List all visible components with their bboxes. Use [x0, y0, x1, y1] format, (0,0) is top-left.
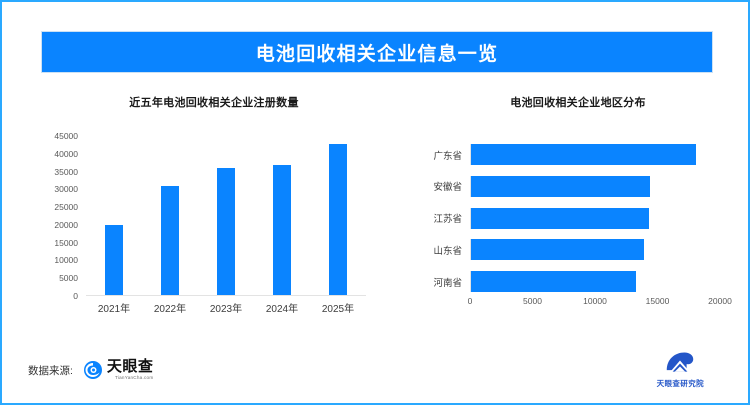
vbar-y-tick: 25000 — [54, 202, 78, 212]
vbar-plot-area — [86, 136, 366, 296]
infographic-poster: 电池回收相关企业信息一览 近五年电池回收相关企业注册数量 05000100001… — [0, 0, 750, 405]
data-source-block: 数据来源: 天眼查 TianYanCha.com — [28, 359, 153, 381]
vbar-y-tick: 35000 — [54, 167, 78, 177]
hbar-track — [470, 176, 721, 197]
vbar-y-tick: 15000 — [54, 238, 78, 248]
vbar-column — [86, 136, 142, 295]
vbar-column — [254, 136, 310, 295]
vbar-column — [310, 136, 366, 295]
hbar-track — [470, 208, 721, 229]
hbar-bar — [471, 176, 650, 197]
hbar-x-tick: 0 — [468, 296, 473, 306]
chart-title-region-distribution: 电池回收相关企业地区分布 — [414, 94, 742, 110]
vbar-x-tick: 2022年 — [142, 300, 198, 315]
hbar-category-label: 广东省 — [408, 148, 470, 162]
hbar-row: 河南省 — [408, 271, 738, 292]
vertical-bar-chart: 0500010000150002000025000300003500040000… — [36, 136, 376, 326]
tianyancha-name-en: TianYanCha.com — [107, 376, 154, 381]
vbar-bar — [105, 225, 123, 295]
vbar-bar — [329, 144, 347, 295]
chart-panel-region-distribution: 电池回收相关企业地区分布 广东省安徽省江苏省山东省河南省 05000100001… — [402, 94, 742, 339]
hbar-x-tick: 20000 — [708, 296, 732, 306]
hbar-category-label: 山东省 — [408, 243, 470, 257]
vbar-y-tick: 40000 — [54, 149, 78, 159]
page-title: 电池回收相关企业信息一览 — [256, 39, 498, 66]
vbar-bar — [273, 165, 291, 295]
tianyancha-wordmark: 天眼查 TianYanCha.com — [107, 359, 154, 381]
poster-title-banner: 电池回收相关企业信息一览 — [42, 32, 712, 72]
hbar-category-label: 河南省 — [408, 275, 470, 289]
hbar-rows: 广东省安徽省江苏省山东省河南省 — [408, 144, 738, 292]
hbar-track — [470, 239, 721, 260]
vbar-x-tick: 2025年 — [310, 300, 366, 315]
hbar-track — [470, 271, 721, 292]
hbar-bar — [471, 271, 636, 292]
research-institute-name: 天眼查研究院 — [657, 378, 704, 389]
hbar-row: 山东省 — [408, 239, 738, 260]
vbar-x-tick: 2021年 — [86, 300, 142, 315]
vbar-x-tick: 2023年 — [198, 300, 254, 315]
tianyancha-eye-icon — [83, 360, 103, 380]
research-institute-block: 天眼查研究院 — [657, 351, 704, 389]
vbar-y-tick: 0 — [73, 291, 78, 301]
hbar-row: 安徽省 — [408, 176, 738, 197]
vbar-y-tick: 5000 — [59, 273, 78, 283]
hbar-bar — [471, 208, 649, 229]
tianyancha-logo: 天眼查 TianYanCha.com — [83, 359, 154, 381]
data-source-label: 数据来源: — [28, 363, 73, 378]
vbar-x-axis: 2021年2022年2023年2024年2025年 — [86, 300, 366, 315]
vbar-y-axis: 0500010000150002000025000300003500040000… — [36, 136, 82, 296]
vbar-y-tick: 20000 — [54, 220, 78, 230]
hbar-row: 江苏省 — [408, 208, 738, 229]
hbar-x-axis: 05000100001500020000 — [470, 296, 720, 310]
hbar-bar — [471, 239, 644, 260]
vbar-bar — [161, 186, 179, 295]
research-institute-icon — [665, 351, 695, 376]
hbar-x-tick: 10000 — [583, 296, 607, 306]
hbar-category-label: 江苏省 — [408, 211, 470, 225]
vbar-x-tick: 2024年 — [254, 300, 310, 315]
vbar-y-tick: 30000 — [54, 184, 78, 194]
hbar-bar — [471, 144, 696, 165]
chart-title-registrations: 近五年电池回收相关企业注册数量 — [34, 94, 394, 110]
vbar-y-tick: 10000 — [54, 255, 78, 265]
vbar-bar — [217, 168, 235, 295]
hbar-row: 广东省 — [408, 144, 738, 165]
tianyancha-name-cn: 天眼查 — [107, 359, 154, 374]
hbar-x-tick: 15000 — [646, 296, 670, 306]
horizontal-bar-chart: 广东省安徽省江苏省山东省河南省 05000100001500020000 — [408, 144, 738, 324]
vbar-column — [198, 136, 254, 295]
hbar-category-label: 安徽省 — [408, 179, 470, 193]
chart-panel-registrations: 近五年电池回收相关企业注册数量 050001000015000200002500… — [24, 94, 394, 339]
vbar-y-tick: 45000 — [54, 131, 78, 141]
hbar-track — [470, 144, 721, 165]
vbar-column — [142, 136, 198, 295]
hbar-x-tick: 5000 — [523, 296, 542, 306]
